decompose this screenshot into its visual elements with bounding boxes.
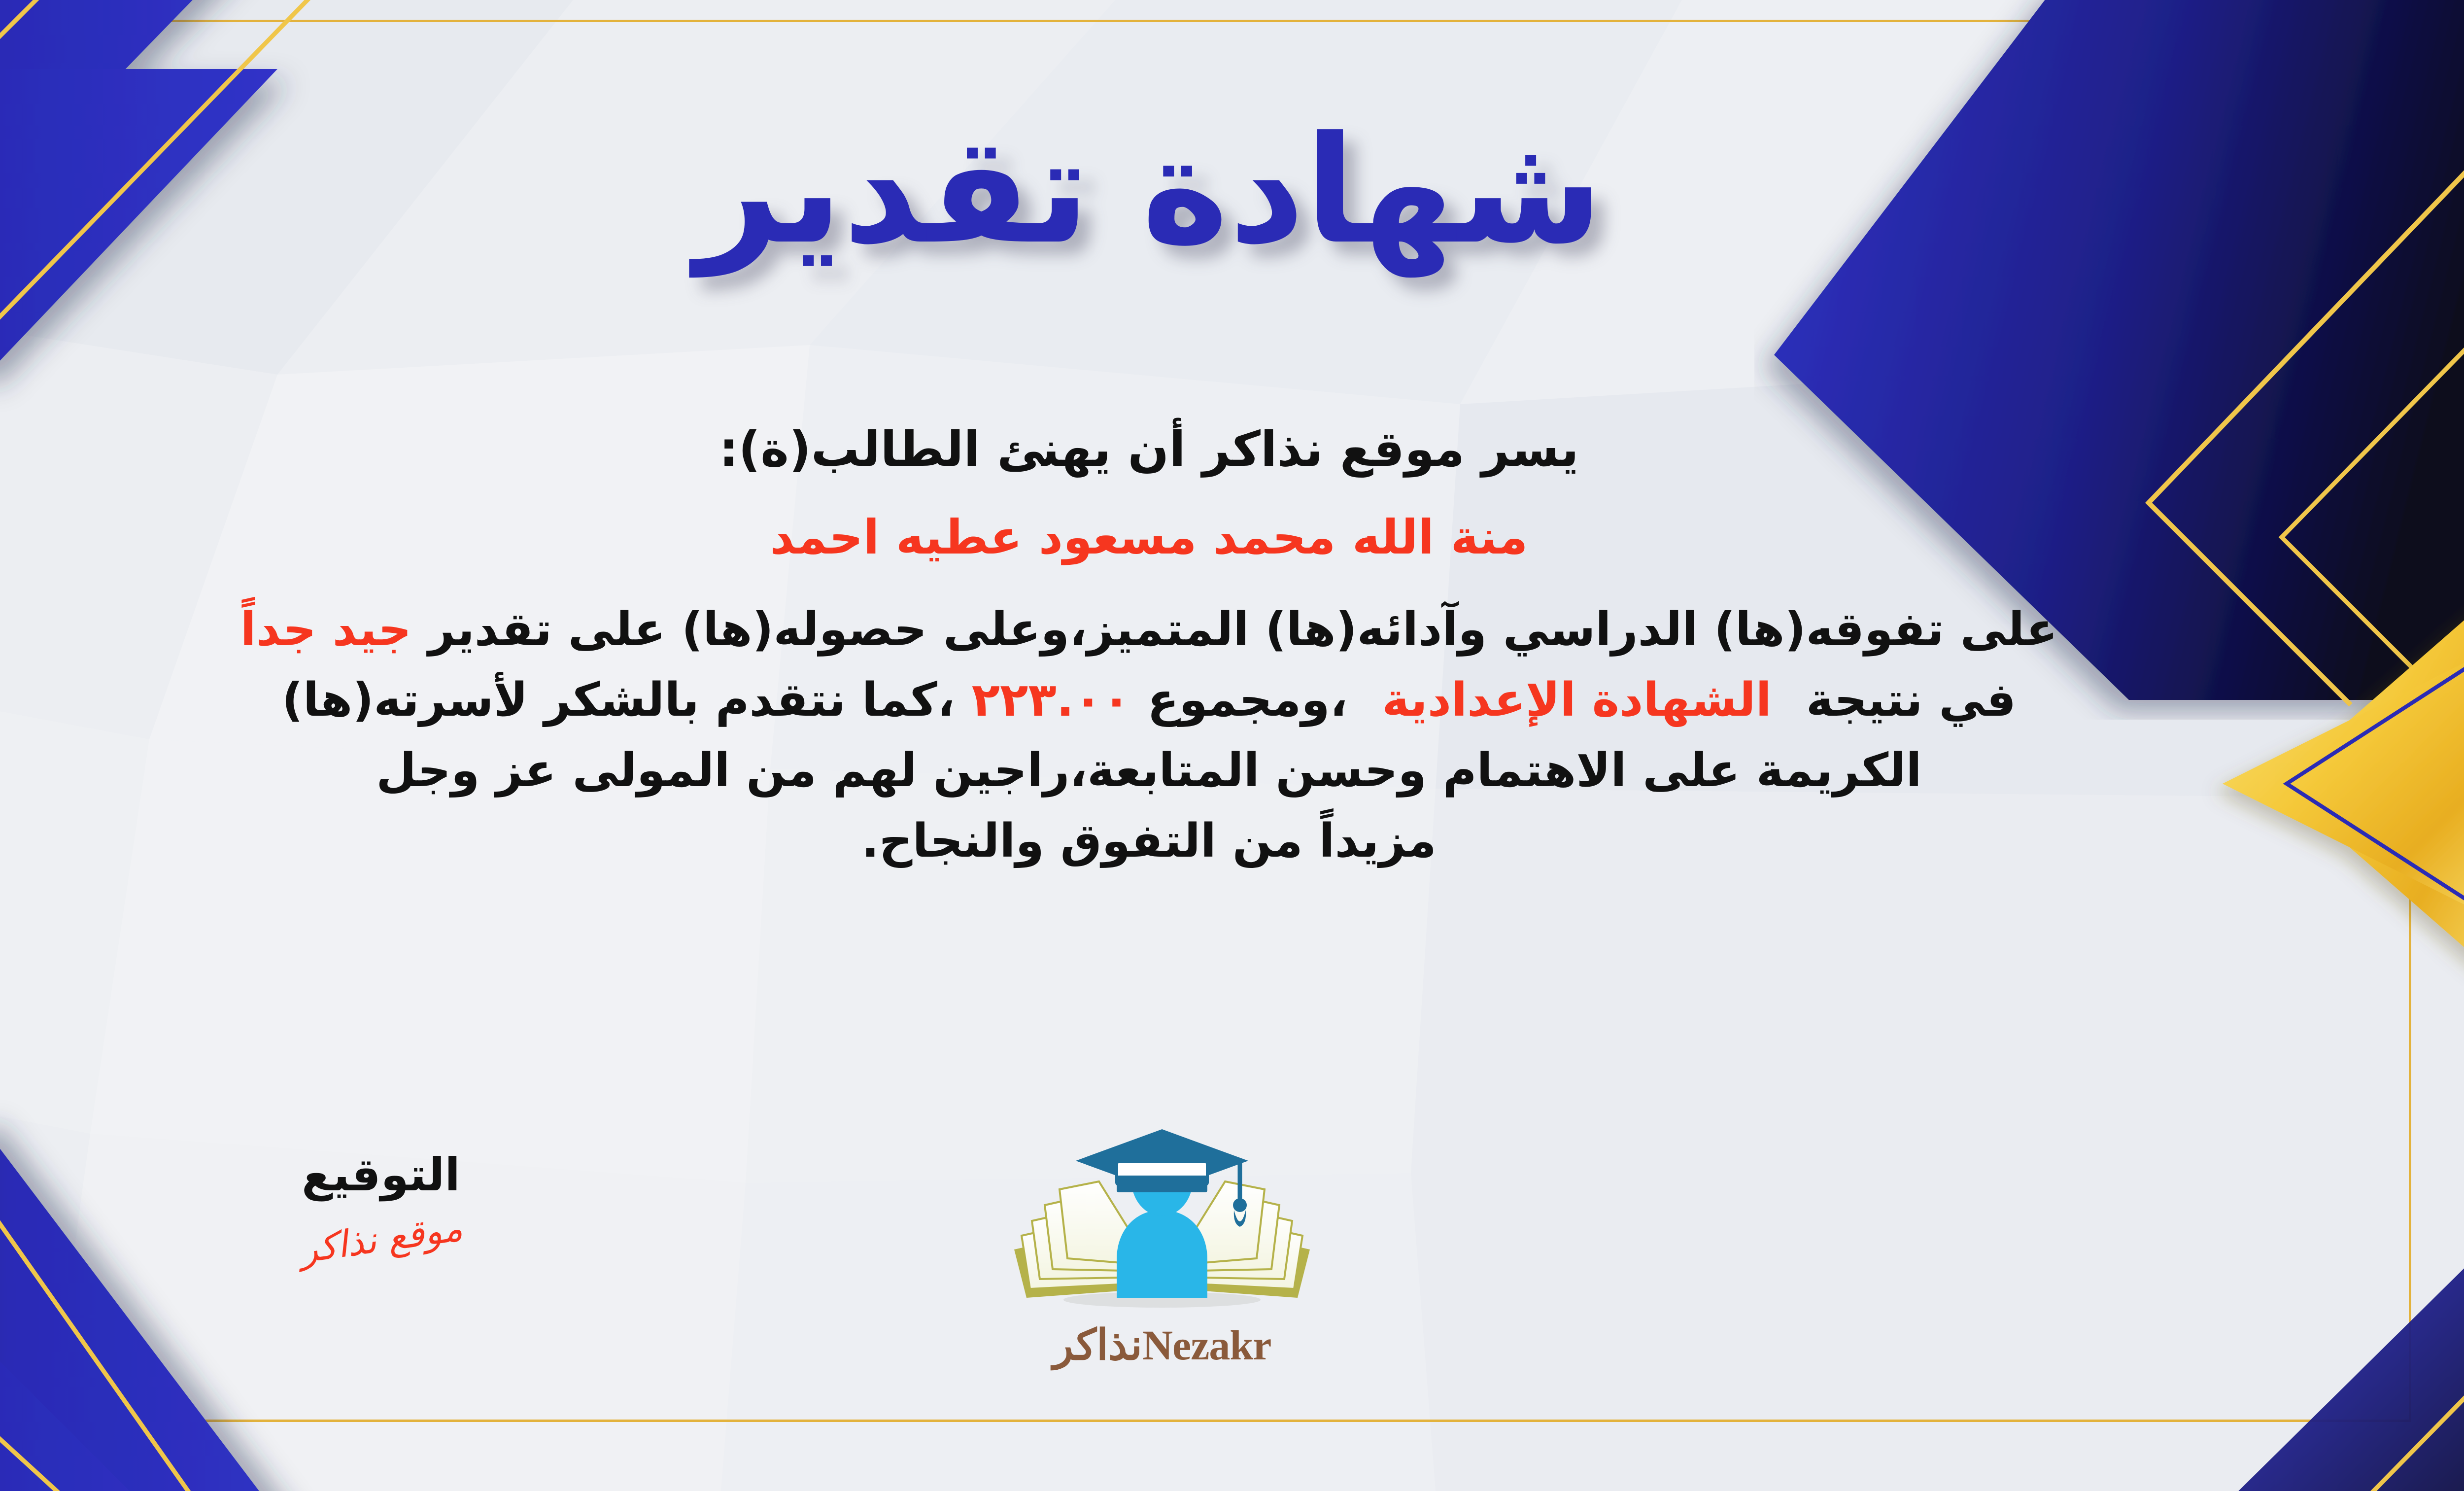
logo-wordmark: Nezakrنذاكر xyxy=(945,1320,1379,1370)
total-score: ٢٢٣.٠٠ xyxy=(972,673,1131,727)
citation-line-1-text: على تفوقه(ها) الدراسي وآدائه(ها) المتميز… xyxy=(428,603,2057,657)
signature-label: التوقيع xyxy=(243,1148,519,1201)
citation-line-2-mid: ،ومجموع xyxy=(1147,673,1347,727)
greeting-line: يسر موقع نذاكر أن يهنئ الطالب(ة): xyxy=(0,414,2380,485)
student-name: منة الله محمد مسعود عطيه احمد xyxy=(0,502,2380,572)
citation-line-3: الكريمة على الاهتمام وحسن المتابعة،راجين… xyxy=(0,736,2380,806)
graduation-book-logo-icon xyxy=(999,1126,1325,1323)
student-body xyxy=(1117,1210,1207,1298)
citation-line-4: مزيداً من التفوق والنجاح. xyxy=(0,806,2380,877)
certificate-canvas: شهادة تقدير يسر موقع نذاكر أن يهنئ الطال… xyxy=(0,0,2464,1491)
exam-name: الشهادة الإعدادية xyxy=(1382,673,1771,727)
certificate-title-area: شهادة تقدير xyxy=(0,59,2464,335)
citation-line-2-prefix: في نتيجة xyxy=(1806,673,2016,727)
citation-paragraph: على تفوقه(ها) الدراسي وآدائه(ها) المتميز… xyxy=(0,595,2380,877)
certificate-title-calligraphy: شهادة تقدير xyxy=(644,59,1654,315)
citation-line-2: في نتيجةالشهادة الإعدادية،ومجموع٢٢٣.٠٠،ك… xyxy=(0,665,2380,736)
citation-line-1: على تفوقه(ها) الدراسي وآدائه(ها) المتميز… xyxy=(0,595,2380,665)
site-logo: Nezakrنذاكر xyxy=(945,1126,1379,1402)
grade-value: جيد جداً xyxy=(240,603,411,657)
citation-line-2-suffix: ،كما نتقدم بالشكر لأسرته(ها) xyxy=(282,673,955,727)
certificate-body: يسر موقع نذاكر أن يهنئ الطالب(ة): منة ال… xyxy=(0,414,2380,877)
signature-block: التوقيع موقع نذاكر xyxy=(243,1148,519,1260)
title-text: شهادة تقدير xyxy=(688,104,1603,278)
